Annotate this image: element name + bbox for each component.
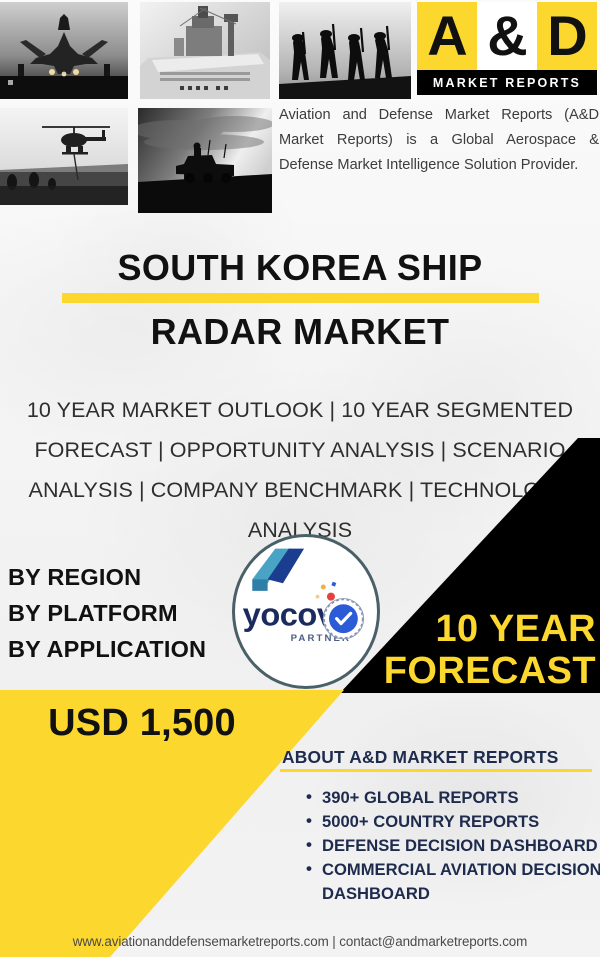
list-item: COMMERCIAL AVIATION DECISION DASHBOARD: [322, 858, 600, 906]
segment-item-region: BY REGION: [8, 559, 206, 595]
company-intro-paragraph: Aviation and Defense Market Reports (A&D…: [279, 103, 599, 178]
price-value: USD 1,500: [22, 702, 262, 745]
logo-letter-ampersand: &: [477, 2, 537, 70]
naval-warship-photo: [140, 2, 270, 99]
list-item: 390+ GLOBAL REPORTS: [322, 786, 600, 810]
badge-chevron-tail: [252, 579, 267, 591]
about-section-heading: ABOUT A&D MARKET REPORTS: [282, 747, 559, 768]
helicopter-photo: [0, 108, 128, 205]
logo-letter-row: A & D: [417, 2, 597, 70]
segmentation-list: BY REGION BY PLATFORM BY APPLICATION: [8, 559, 206, 667]
page-title-line2: RADAR MARKET: [0, 311, 600, 353]
about-heading-underline: [280, 769, 592, 772]
list-item: 5000+ COUNTRY REPORTS: [322, 810, 600, 834]
segment-item-application: BY APPLICATION: [8, 631, 206, 667]
logo-tagline: MARKET REPORTS: [417, 70, 597, 95]
forecast-callout: 10 YEAR FORECAST: [300, 608, 596, 692]
badge-dot-amber: [321, 585, 326, 590]
footer-contact-line: www.aviationanddefensemarketreports.com …: [0, 934, 600, 949]
segment-item-platform: BY PLATFORM: [8, 595, 206, 631]
list-item: DEFENSE DECISION DASHBOARD: [322, 834, 600, 858]
title-underline-rule: [62, 293, 539, 303]
forecast-line1: 10 YEAR: [300, 608, 596, 650]
fighter-jet-photo: [0, 2, 128, 99]
about-bullet-list: 390+ GLOBAL REPORTS 5000+ COUNTRY REPORT…: [296, 786, 600, 906]
armored-vehicle-photo: [138, 108, 272, 213]
logo-letter-a: A: [417, 2, 477, 70]
forecast-line2: FORECAST: [300, 650, 596, 692]
badge-dot-blue: [331, 582, 336, 587]
page-title-line1: SOUTH KOREA SHIP: [0, 247, 600, 289]
poster-root: A & D MARKET REPORTS Aviation and Defens…: [0, 0, 600, 957]
logo-letter-d: D: [537, 2, 597, 70]
ad-market-reports-logo: A & D MARKET REPORTS: [417, 2, 597, 95]
report-scope-subtitle: 10 YEAR MARKET OUTLOOK | 10 YEAR SEGMENT…: [10, 390, 590, 550]
soldiers-silhouette-photo: [279, 2, 411, 99]
